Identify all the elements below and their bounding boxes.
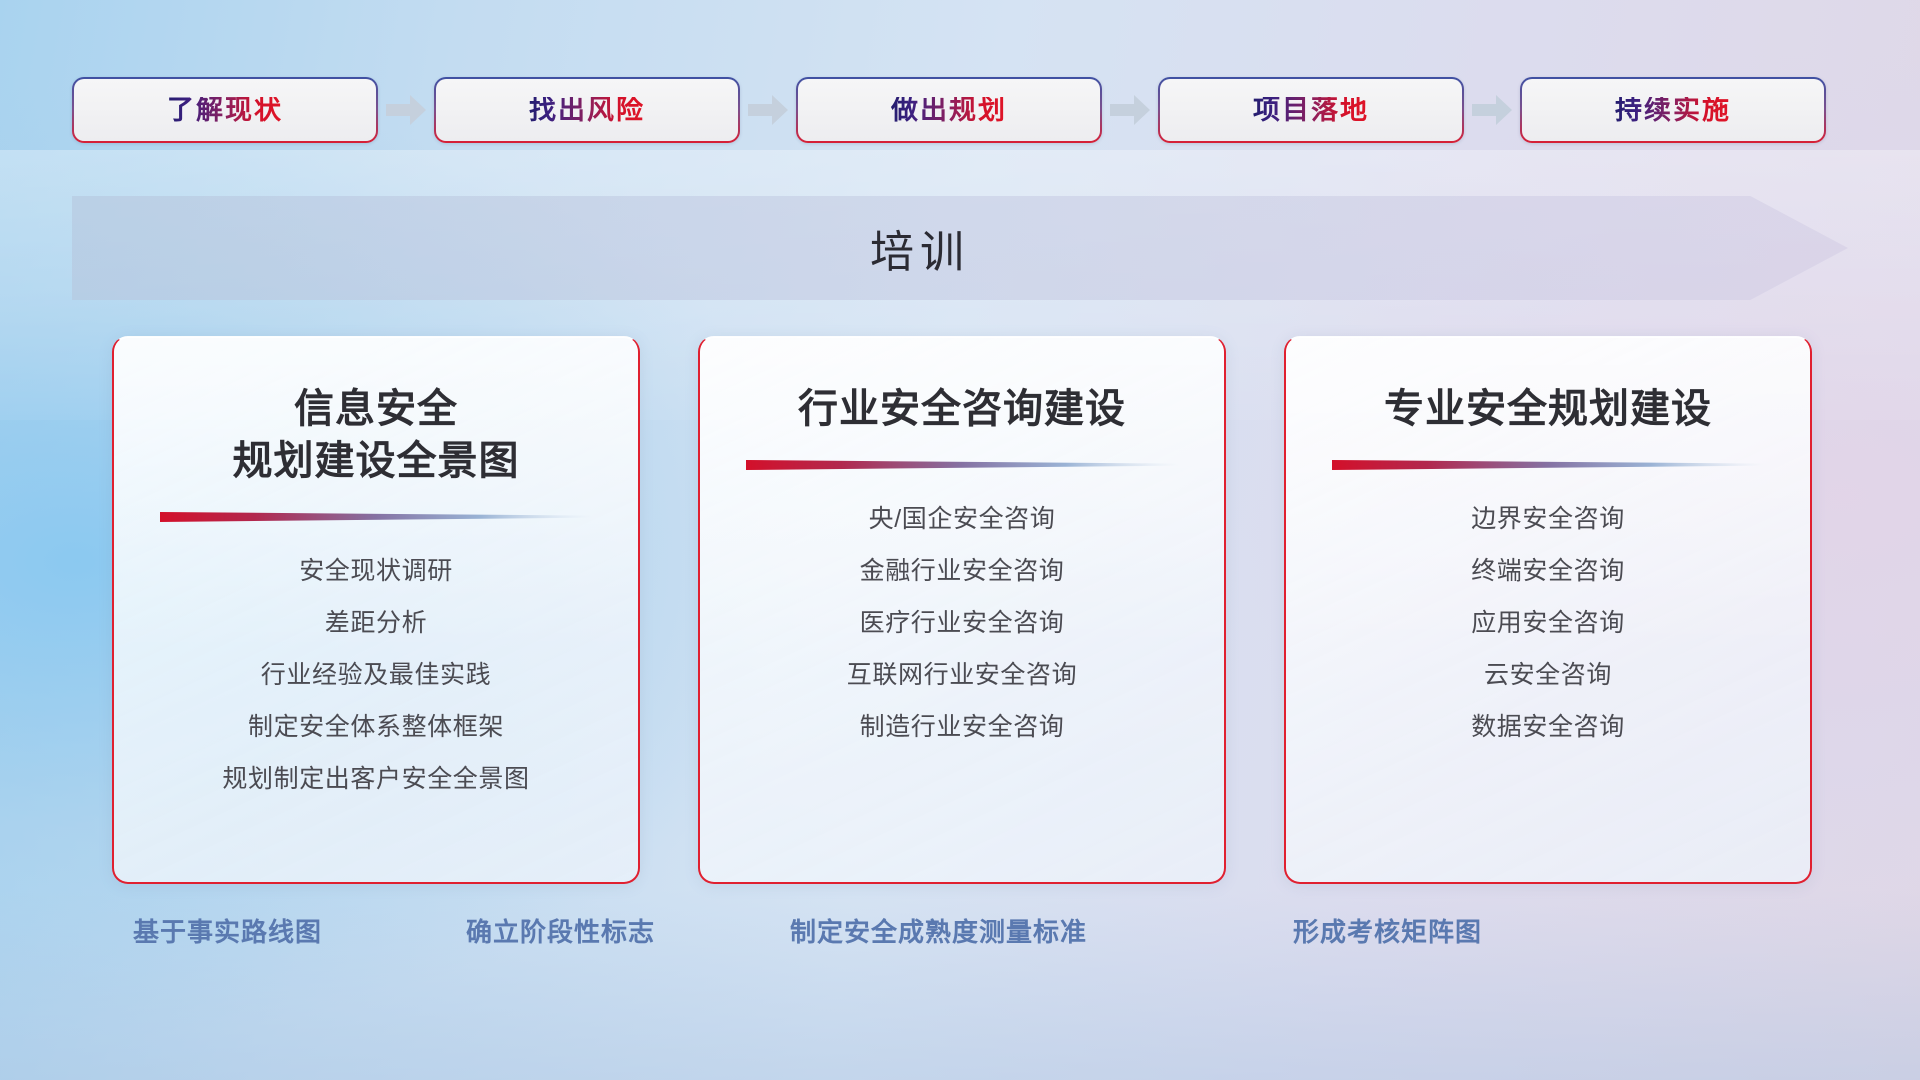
service-card-list-item: 差距分析 [140,611,612,636]
process-step-label: 项目落地 [1253,97,1369,124]
service-card-row: 信息安全 规划建设全景图安全现状调研差距分析行业经验及最佳实践制定安全体系整体框… [112,336,1812,884]
footnote-row: 基于事实路线图确立阶段性标志制定安全成熟度测量标准形成考核矩阵图 [0,912,1920,962]
service-card-list-item: 央/国企安全咨询 [726,507,1198,532]
step-arrow-icon-4 [1464,95,1520,125]
process-step-inner: 了解现状 [74,79,376,141]
process-step-label: 做出规划 [891,97,1007,124]
service-card-list: 安全现状调研差距分析行业经验及最佳实践制定安全体系整体框架规划制定出客户安全全景… [114,559,638,792]
service-card-list-item: 行业经验及最佳实践 [140,663,612,688]
process-step-label: 了解现状 [167,97,283,124]
service-card-2[interactable]: 行业安全咨询建设央/国企安全咨询金融行业安全咨询医疗行业安全咨询互联网行业安全咨… [698,336,1226,884]
training-banner-title: 培训 [72,196,1848,300]
process-step-inner: 找出风险 [436,79,738,141]
service-card-list-item: 规划制定出客户安全全景图 [140,767,612,792]
service-card-title: 专业安全规划建设 [1316,383,1780,435]
process-step-label: 持续实施 [1615,97,1731,124]
service-card-header: 行业安全咨询建设 [700,337,1224,473]
training-banner: 培训 [72,196,1848,300]
service-card-list: 央/国企安全咨询金融行业安全咨询医疗行业安全咨询互联网行业安全咨询制造行业安全咨… [700,507,1224,740]
service-card-list-item: 云安全咨询 [1312,663,1784,688]
footnote-label-3: 制定安全成熟度测量标准 [790,912,1087,949]
service-card-title: 信息安全 规划建设全景图 [144,383,608,487]
service-card-list-item: 金融行业安全咨询 [726,559,1198,584]
service-card-title: 行业安全咨询建设 [730,383,1194,435]
process-step-inner: 持续实施 [1522,79,1824,141]
step-arrow-icon-3 [1102,95,1158,125]
process-step-5[interactable]: 持续实施 [1520,77,1826,143]
step-arrow-icon-1 [378,95,434,125]
process-step-4[interactable]: 项目落地 [1158,77,1464,143]
service-card-header: 信息安全 规划建设全景图 [114,337,638,525]
card-accent-divider [160,509,592,525]
card-accent-divider [1332,457,1764,473]
process-step-3[interactable]: 做出规划 [796,77,1102,143]
service-card-header: 专业安全规划建设 [1286,337,1810,473]
service-card-list-item: 制定安全体系整体框架 [140,715,612,740]
footnote-label-2: 确立阶段性标志 [466,912,655,949]
step-arrow-icon-2 [740,95,796,125]
service-card-list-item: 安全现状调研 [140,559,612,584]
service-card-1[interactable]: 信息安全 规划建设全景图安全现状调研差距分析行业经验及最佳实践制定安全体系整体框… [112,336,640,884]
card-accent-divider [746,457,1178,473]
process-step-row: 了解现状找出风险做出规划项目落地持续实施 [72,76,1848,144]
process-step-inner: 做出规划 [798,79,1100,141]
footnote-label-1: 基于事实路线图 [133,912,322,949]
process-step-label: 找出风险 [529,97,645,124]
service-card-list: 边界安全咨询终端安全咨询应用安全咨询云安全咨询数据安全咨询 [1286,507,1810,740]
service-card-list-item: 医疗行业安全咨询 [726,611,1198,636]
footnote-label-4: 形成考核矩阵图 [1293,912,1482,949]
service-card-list-item: 边界安全咨询 [1312,507,1784,532]
service-card-list-item: 互联网行业安全咨询 [726,663,1198,688]
process-step-1[interactable]: 了解现状 [72,77,378,143]
service-card-list-item: 数据安全咨询 [1312,715,1784,740]
service-card-list-item: 终端安全咨询 [1312,559,1784,584]
service-card-list-item: 应用安全咨询 [1312,611,1784,636]
process-step-2[interactable]: 找出风险 [434,77,740,143]
service-card-list-item: 制造行业安全咨询 [726,715,1198,740]
service-card-3[interactable]: 专业安全规划建设边界安全咨询终端安全咨询应用安全咨询云安全咨询数据安全咨询 [1284,336,1812,884]
process-step-inner: 项目落地 [1160,79,1462,141]
